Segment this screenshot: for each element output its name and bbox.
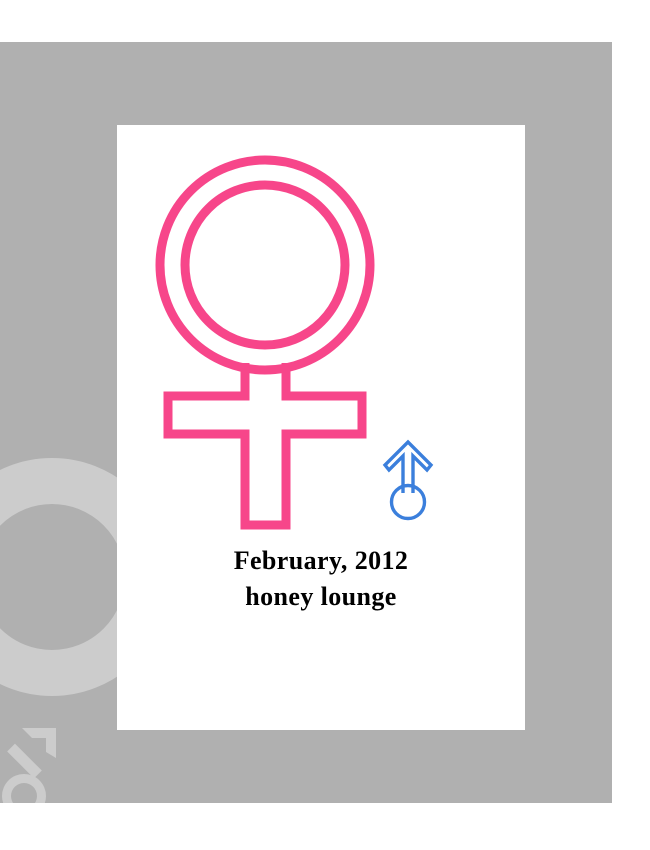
- poster-canvas: February, 2012 honey lounge: [0, 0, 650, 850]
- mars-symbol-icon: [382, 437, 434, 521]
- symbol-artwork: [117, 125, 525, 555]
- poster-card: February, 2012 honey lounge: [117, 125, 525, 730]
- caption-date: February, 2012: [117, 543, 525, 579]
- mars-symbol-watermark-icon: [0, 722, 72, 803]
- caption-venue: honey lounge: [117, 579, 525, 615]
- venus-symbol-icon: [155, 150, 395, 540]
- poster-caption: February, 2012 honey lounge: [117, 543, 525, 615]
